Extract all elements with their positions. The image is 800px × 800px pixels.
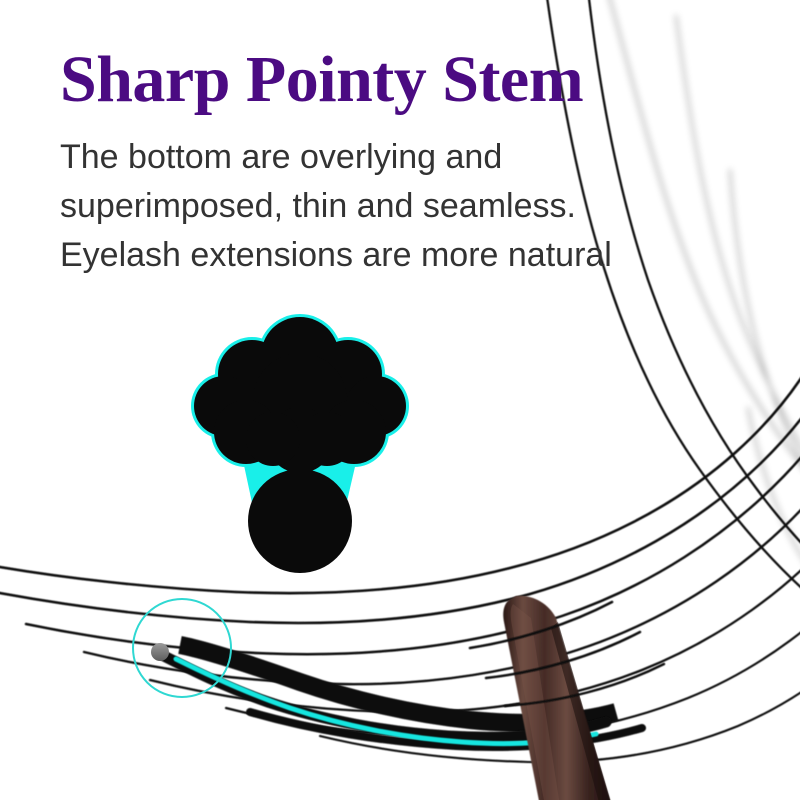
- fan-stem-dot: [248, 469, 352, 573]
- banner-canvas: Sharp Pointy Stem The bottom are overlyi…: [0, 0, 800, 800]
- lash-fan-schematic: [180, 308, 420, 573]
- lash-tip-dot: [151, 643, 169, 661]
- fan-cluster: [194, 317, 406, 473]
